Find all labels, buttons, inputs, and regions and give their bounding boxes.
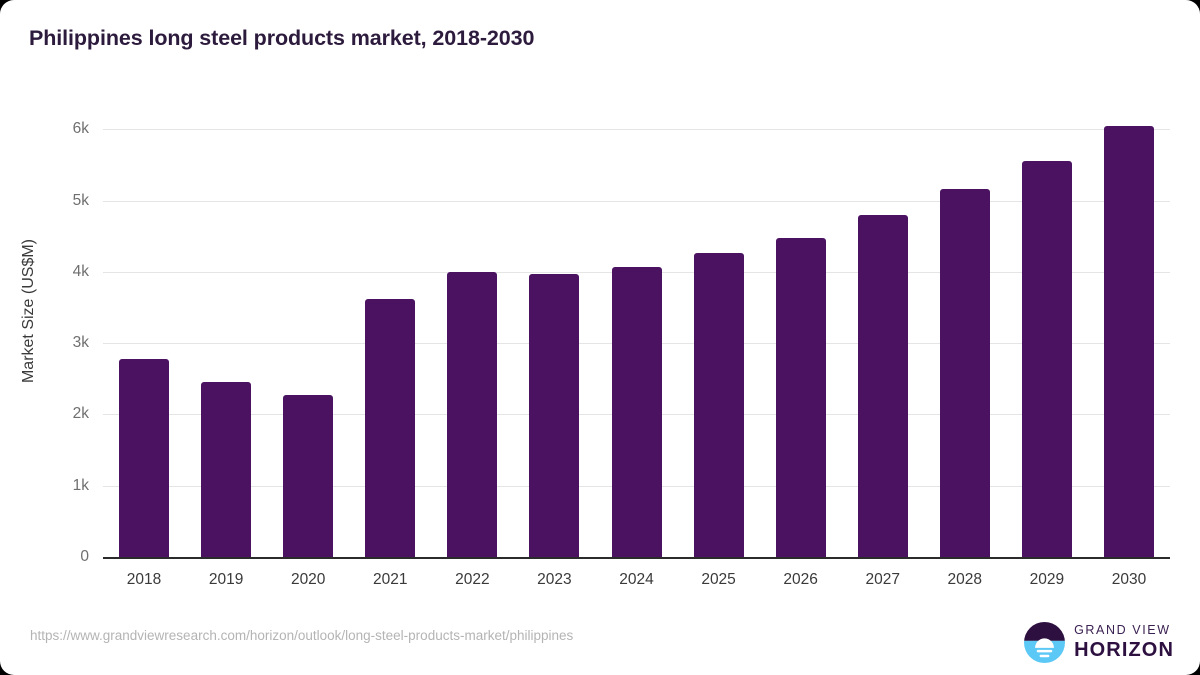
bar-2019[interactable]: [201, 382, 251, 557]
bar-2029[interactable]: [1022, 161, 1072, 557]
bar-2027[interactable]: [858, 215, 908, 557]
x-axis-tick-label: 2028: [948, 571, 982, 589]
y-axis-tick-label: 6k: [29, 120, 89, 138]
gridline: [103, 129, 1170, 130]
x-axis-tick-label: 2026: [783, 571, 817, 589]
bar-2022[interactable]: [447, 272, 497, 557]
x-axis-tick-label: 2022: [455, 571, 489, 589]
y-axis-tick-label: 0: [29, 548, 89, 566]
x-axis-tick-label: 2024: [619, 571, 653, 589]
chart-card: Philippines long steel products market, …: [0, 0, 1200, 675]
x-axis-tick-label: 2018: [127, 571, 161, 589]
gridline: [103, 201, 1170, 202]
bar-2025[interactable]: [694, 253, 744, 557]
y-axis-tick-label: 5k: [29, 192, 89, 210]
bar-2023[interactable]: [529, 274, 579, 557]
x-axis-tick-label: 2030: [1112, 571, 1146, 589]
bar-2026[interactable]: [776, 238, 826, 557]
y-axis-tick-label: 1k: [29, 477, 89, 495]
bar-2020[interactable]: [283, 395, 333, 557]
x-axis-tick-label: 2019: [209, 571, 243, 589]
logo-line-horizon: HORIZON: [1074, 640, 1174, 660]
brand-logo[interactable]: GRAND VIEW HORIZON: [1024, 620, 1174, 664]
bar-2030[interactable]: [1104, 126, 1154, 557]
y-axis-tick-label: 4k: [29, 263, 89, 281]
x-axis-tick-label: 2029: [1030, 571, 1064, 589]
y-axis-tick-label: 2k: [29, 405, 89, 423]
x-axis-tick-label: 2020: [291, 571, 325, 589]
x-axis-line: [103, 557, 1170, 559]
source-url[interactable]: https://www.grandviewresearch.com/horizo…: [30, 628, 573, 643]
x-axis-tick-label: 2023: [537, 571, 571, 589]
bar-2018[interactable]: [119, 359, 169, 557]
y-axis-tick-label: 3k: [29, 334, 89, 352]
logo-line-grand-view: GRAND VIEW: [1074, 624, 1174, 637]
bar-2024[interactable]: [612, 267, 662, 557]
bar-2028[interactable]: [940, 189, 990, 557]
page-title: Philippines long steel products market, …: [29, 26, 534, 51]
grand-view-horizon-logo-icon: [1024, 622, 1065, 663]
plot-area: [103, 108, 1170, 557]
x-axis-tick-label: 2021: [373, 571, 407, 589]
bar-2021[interactable]: [365, 299, 415, 557]
logo-wordmark: GRAND VIEW HORIZON: [1074, 624, 1174, 661]
x-axis-tick-label: 2025: [701, 571, 735, 589]
x-axis-tick-label: 2027: [865, 571, 899, 589]
